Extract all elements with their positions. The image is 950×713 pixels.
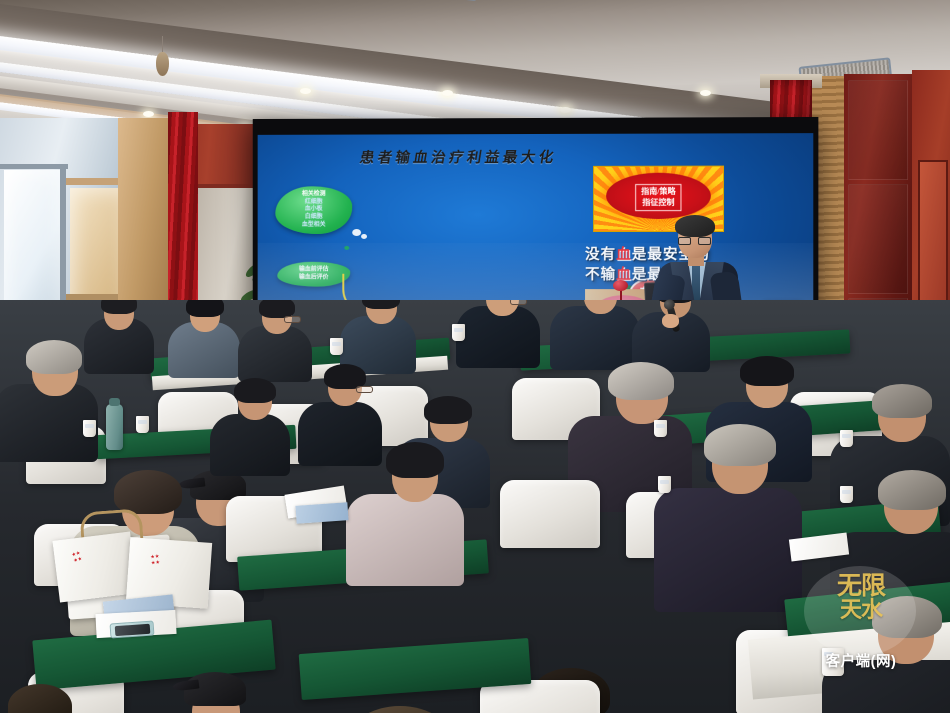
audience-hair-grey	[878, 470, 946, 510]
paper-gift-bag: ★★★★	[53, 531, 138, 602]
cap-brim	[179, 477, 206, 489]
audience-body	[346, 494, 464, 586]
water-cup	[654, 420, 667, 437]
chair-cover	[500, 480, 600, 548]
downlight-icon	[700, 90, 711, 96]
slide-title: 患者输血治疗利益最大化	[293, 146, 624, 168]
callout-tests-header: 相关检测	[302, 191, 326, 197]
slogan-l1-highlight: 血	[616, 247, 632, 263]
badge-text: 指南/策略 指征控制	[635, 184, 682, 212]
audience-hair	[386, 442, 444, 478]
audience-hair	[234, 378, 276, 403]
microphone-icon	[613, 280, 628, 291]
audience-hair	[101, 300, 137, 314]
water-cup	[840, 430, 853, 447]
water-cup	[83, 420, 96, 437]
callout-assessment: 输血前评估 输血后评价	[277, 262, 350, 287]
callout-tests-item-2: 白细胞	[305, 214, 323, 220]
cap-brim	[173, 679, 200, 691]
audience-body	[654, 488, 802, 612]
audience-body	[210, 414, 290, 476]
water-cup	[822, 648, 844, 676]
audience-hair-grey	[26, 340, 82, 374]
glasses-icon	[356, 386, 373, 393]
audience-hair-grey	[608, 362, 674, 400]
downlight-icon	[442, 90, 453, 96]
thermos-bottle	[106, 404, 123, 450]
callout-bubble-dot	[361, 234, 367, 239]
water-cup	[330, 338, 343, 355]
audience-hair-grey	[704, 424, 776, 466]
downlight-icon	[143, 111, 154, 117]
air-vent-icon	[417, 0, 479, 1]
callout-bubble-dot	[344, 246, 349, 250]
audience-body	[298, 402, 382, 466]
callout-assessment-line1: 输血前评估	[299, 267, 329, 273]
audience-body	[238, 326, 312, 382]
water-cup	[136, 416, 149, 433]
downlight-icon	[300, 88, 311, 94]
audience-body	[550, 306, 640, 370]
callout-bubble-dot	[352, 229, 361, 236]
smartphone	[110, 620, 155, 638]
pendant-lamp-icon	[156, 52, 169, 76]
handout-paper	[295, 502, 348, 524]
callout-assessment-line2: 输血后评价	[299, 274, 329, 280]
slogan-l1a: 没有	[585, 247, 616, 263]
callout-tests-item-3: 血型相关	[302, 222, 326, 228]
water-cup	[840, 486, 853, 503]
audience-area: ★★★★ ★★★★	[0, 300, 950, 713]
glasses-icon	[284, 316, 301, 323]
bag-logo: ★★★★	[71, 551, 83, 565]
conference-hall-photo: 患者输血治疗利益最大化 有血 血液 不输 没有 安全 有效 相关检测 红细胞 血…	[0, 0, 950, 713]
badge-line1: 指南/策略	[641, 187, 675, 196]
baseball-cap	[184, 672, 246, 706]
audience-hair	[346, 706, 454, 713]
presenter-hair	[675, 215, 715, 237]
callout-related-tests: 相关检测 红细胞 血小板 白细胞 血型相关	[275, 186, 352, 234]
glasses-icon	[678, 237, 712, 245]
audience-hair	[424, 396, 472, 424]
audience-hair	[740, 356, 794, 386]
water-cup	[658, 476, 671, 493]
presenter-hand-right	[662, 314, 679, 328]
audience-hair-grey	[872, 596, 942, 638]
glasses-icon	[510, 300, 527, 305]
bag-logo: ★★★★	[150, 555, 160, 567]
badge-line2: 指征控制	[642, 198, 674, 207]
callout-tests-item-1: 血小板	[305, 207, 323, 213]
water-cup	[452, 324, 465, 341]
audience-hair	[362, 300, 400, 309]
slogan-l2a: 不输	[585, 267, 616, 283]
audience-hair	[186, 300, 224, 317]
audience-hair-grey	[872, 384, 932, 418]
callout-tests-item-0: 红细胞	[305, 199, 323, 205]
audience-hair	[114, 470, 182, 514]
downlight-icon	[560, 107, 571, 113]
